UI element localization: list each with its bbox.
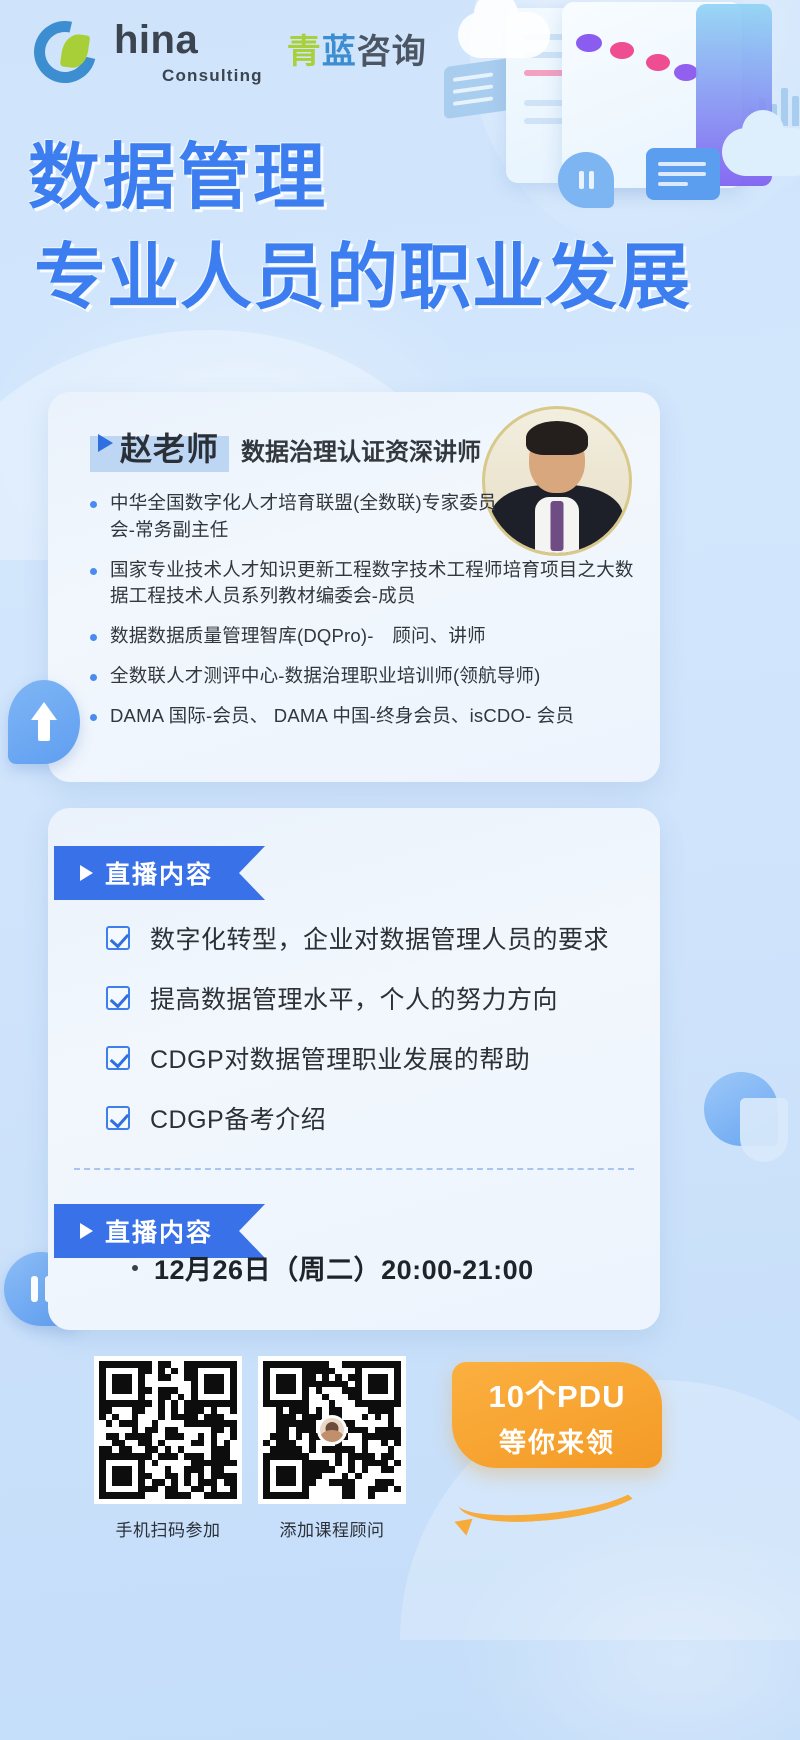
credential-text: 数据数据质量管理智库(DQPro)- 顾问、讲师 — [110, 625, 486, 646]
credential-item: DAMA 国际-会员、 DAMA 中国-终身会员、isCDO- 会员 — [88, 703, 640, 730]
decor-circle-icon — [704, 1072, 790, 1166]
page-title: 数据管理 专业人员的职业发展 — [28, 140, 728, 318]
cloud-icon-1 — [458, 12, 550, 58]
live-content-card: 直播内容 数字化转型，企业对数据管理人员的要求 提高数据管理水平，个人的努力方向… — [48, 808, 660, 1330]
title-line-2: 专业人员的职业发展 — [34, 240, 728, 318]
checklist-text: 提高数据管理水平，个人的努力方向 — [150, 980, 558, 1016]
credential-text: 国家专业技术人才知识更新工程数字技术工程师培育项目之大数据工程技术人员系列教材编… — [110, 559, 634, 607]
checkbox-checked-icon — [106, 986, 130, 1010]
pdu-swoosh-arrow-icon — [456, 1459, 649, 1526]
pdu-badge: 10个PDU 等你来领 — [452, 1362, 662, 1468]
instructor-name-highlight: 赵老师 — [90, 420, 229, 474]
instructor-role: 数据治理认证资深讲师 — [241, 432, 481, 467]
bullet-icon — [90, 568, 97, 575]
logo-chinese-name: 青 蓝 咨询 — [287, 24, 427, 73]
poster-root: hina Consulting 青 蓝 咨询 数据管理 专业人员的职业发展 赵老… — [0, 0, 800, 1740]
pdu-badge-line-1: 10个PDU — [489, 1371, 626, 1416]
qr-block-join[interactable]: 手机扫码参加 — [94, 1356, 242, 1541]
instructor-header: 赵老师 数据治理认证资深讲师 — [90, 420, 481, 474]
credential-item: 全数联人才测评中心-数据治理职业培训师(领航导师) — [88, 663, 640, 690]
checklist-text: CDGP对数据管理职业发展的帮助 — [150, 1040, 530, 1076]
play-triangle-icon — [80, 865, 93, 881]
qr-caption-join: 手机扫码参加 — [94, 1516, 242, 1541]
instructor-name: 赵老师 — [120, 431, 219, 467]
bullet-icon — [90, 674, 97, 681]
content-checklist: 数字化转型，企业对数据管理人员的要求 提高数据管理水平，个人的努力方向 CDGP… — [106, 920, 609, 1160]
checkbox-checked-icon — [106, 1046, 130, 1070]
advisor-avatar-icon — [317, 1415, 347, 1445]
logo-main-text: hina — [114, 20, 263, 60]
pdu-badge-line-2: 等你来领 — [499, 1421, 615, 1460]
title-line-1: 数据管理 — [28, 140, 728, 218]
credential-text: 中华全国数字化人才培育联盟(全数联)专家委员会-常务副主任 — [110, 492, 497, 540]
checklist-item: CDGP备考介绍 — [106, 1100, 609, 1136]
footer-area: 手机扫码参加 添加课程顾问 10个PDU 等你来领 — [0, 1348, 800, 1578]
schedule-datetime-row: 12月26日（周二）20:00-21:00 — [132, 1248, 540, 1287]
schedule-ribbon-label: 直播内容 — [105, 1213, 213, 1249]
checkbox-checked-icon — [106, 1106, 130, 1130]
credential-text: DAMA 国际-会员、 DAMA 中国-终身会员、isCDO- 会员 — [110, 705, 574, 726]
play-triangle-icon — [80, 1223, 93, 1239]
upload-arrow-icon — [8, 680, 80, 764]
bullet-icon — [132, 1265, 138, 1271]
checklist-text: CDGP备考介绍 — [150, 1100, 326, 1136]
cloud-icon-2 — [722, 128, 800, 176]
brand-header: hina Consulting 青 蓝 咨询 — [34, 20, 427, 84]
content-ribbon: 直播内容 — [54, 846, 265, 900]
checkbox-checked-icon — [106, 926, 130, 950]
logo-cn-char-1: 青 — [287, 24, 322, 73]
instructor-card: 赵老师 数据治理认证资深讲师 中华全国数字化人才培育联盟(全数联)专家委员会-常… — [48, 392, 660, 782]
credential-text: 全数联人才测评中心-数据治理职业培训师(领航导师) — [110, 665, 540, 686]
instructor-credentials-list: 中华全国数字化人才培育联盟(全数联)专家委员会-常务副主任 国家专业技术人才知识… — [88, 490, 640, 743]
triangle-marker-icon — [98, 434, 113, 452]
checklist-item: 数字化转型，企业对数据管理人员的要求 — [106, 920, 609, 956]
qr-block-advisor[interactable]: 添加课程顾问 — [258, 1356, 406, 1541]
credential-item: 国家专业技术人才知识更新工程数字技术工程师培育项目之大数据工程技术人员系列教材编… — [88, 557, 640, 611]
checklist-item: CDGP对数据管理职业发展的帮助 — [106, 1040, 609, 1076]
content-ribbon-label: 直播内容 — [105, 855, 213, 891]
bullet-icon — [90, 501, 97, 508]
logo-wordmark: hina Consulting — [114, 20, 263, 84]
checklist-item: 提高数据管理水平，个人的努力方向 — [106, 980, 609, 1016]
credential-item: 中华全国数字化人才培育联盟(全数联)专家委员会-常务副主任 — [88, 490, 518, 544]
logo-cn-char-2: 蓝 — [322, 24, 357, 73]
qr-code-join-icon[interactable] — [94, 1356, 242, 1504]
bullet-icon — [90, 714, 97, 721]
qr-code-advisor-icon[interactable] — [258, 1356, 406, 1504]
logo-cn-char-3: 咨询 — [357, 24, 427, 73]
qr-caption-advisor: 添加课程顾问 — [258, 1516, 406, 1541]
bullet-icon — [90, 634, 97, 641]
schedule-datetime: 12月26日（周二）20:00-21:00 — [148, 1248, 540, 1287]
checklist-text: 数字化转型，企业对数据管理人员的要求 — [150, 920, 609, 956]
china-consulting-logo-icon — [34, 21, 96, 83]
section-divider — [74, 1168, 634, 1170]
logo-sub-text: Consulting — [162, 67, 263, 84]
credential-item: 数据数据质量管理智库(DQPro)- 顾问、讲师 — [88, 623, 640, 650]
